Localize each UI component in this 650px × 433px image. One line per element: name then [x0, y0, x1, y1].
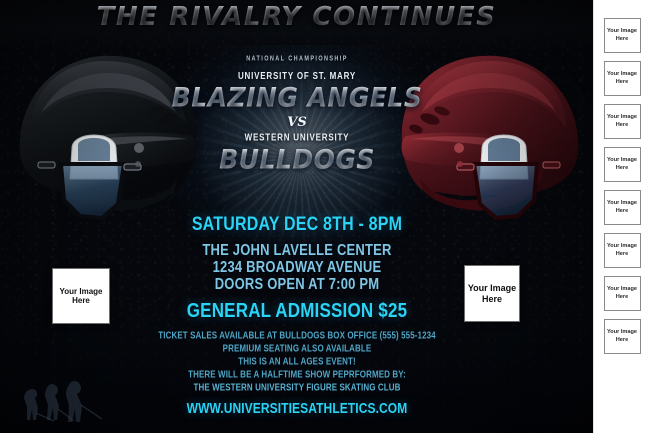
placeholder-label: Your Image Here: [605, 243, 640, 258]
page-title: THE RIVALRY CONTINUES: [0, 2, 593, 32]
fine-print-club: THE WESTERN UNIVERSITY FIGURE SKATING CL…: [146, 380, 448, 397]
placeholder-label: Your Image Here: [605, 157, 640, 172]
placeholder-label: Your Image Here: [605, 200, 640, 215]
event-poster: THE RIVALRY CONTINUES NATIONAL CHAMPIONS…: [0, 0, 650, 433]
sidebar-image-placeholder-7[interactable]: Your Image Here: [604, 276, 641, 311]
sidebar-image-placeholder-2[interactable]: Your Image Here: [604, 61, 641, 96]
sidebar-image-placeholder-1[interactable]: Your Image Here: [604, 18, 641, 53]
placeholder-label: Your Image Here: [605, 28, 640, 43]
sidebar-image-placeholder-3[interactable]: Your Image Here: [604, 104, 641, 139]
placeholder-label: Your Image Here: [605, 286, 640, 301]
matchup-block: NATIONAL CHAMPIONSHIP UNIVERSITY OF ST. …: [146, 56, 448, 172]
sidebar-image-placeholder-4[interactable]: Your Image Here: [604, 147, 641, 182]
hockey-players-silhouette-icon: [6, 369, 126, 431]
sidebar-image-placeholders: Your Image Here Your Image Here Your Ima…: [593, 0, 650, 433]
team-one-school: UNIVERSITY OF ST. MARY: [146, 70, 448, 82]
sidebar-image-placeholder-6[interactable]: Your Image Here: [604, 233, 641, 268]
event-price: GENERAL ADMISSION $25: [146, 299, 448, 323]
placeholder-label: Your Image Here: [465, 283, 519, 304]
image-placeholder-right[interactable]: Your Image Here: [464, 265, 520, 322]
image-placeholder-left[interactable]: Your Image Here: [52, 268, 110, 324]
team-one-name: BLAZING ANGELS: [146, 84, 448, 111]
versus-label: VS: [146, 115, 448, 130]
event-date-time: SATURDAY DEC 8TH - 8PM: [146, 214, 448, 236]
event-website-url: WWW.UNIVERSITIESATHLETICS.COM: [146, 400, 448, 417]
championship-banner: NATIONAL CHAMPIONSHIP: [146, 55, 448, 63]
event-doors-open: DOORS OPEN AT 7:00 PM: [146, 274, 448, 295]
team-two-name: BULLDOGS: [146, 146, 448, 173]
placeholder-label: Your Image Here: [605, 329, 640, 344]
sidebar-image-placeholder-5[interactable]: Your Image Here: [604, 190, 641, 225]
event-details-block: SATURDAY DEC 8TH - 8PM THE JOHN LAVELLE …: [146, 216, 448, 415]
placeholder-label: Your Image Here: [53, 287, 109, 306]
placeholder-label: Your Image Here: [605, 71, 640, 86]
sidebar-image-placeholder-8[interactable]: Your Image Here: [604, 319, 641, 354]
placeholder-label: Your Image Here: [605, 114, 640, 129]
team-two-school: WESTERN UNIVERSITY: [146, 131, 448, 143]
poster-artwork: THE RIVALRY CONTINUES NATIONAL CHAMPIONS…: [0, 0, 593, 433]
